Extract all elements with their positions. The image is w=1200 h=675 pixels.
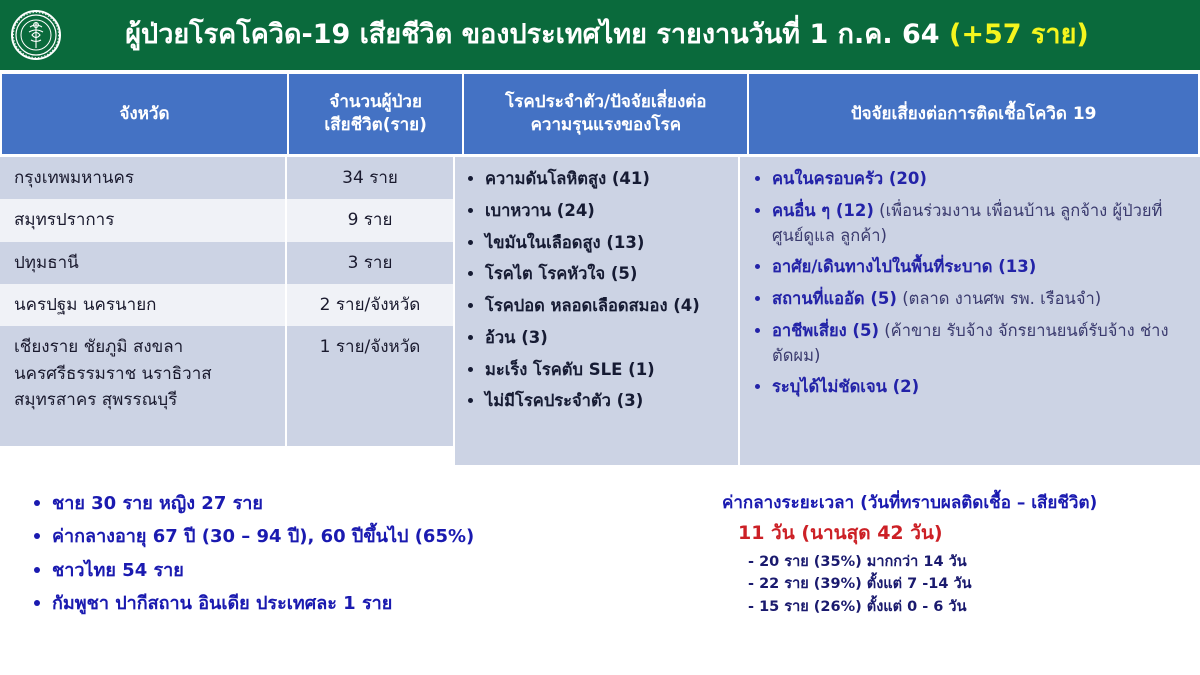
- page-title-highlight: (+57 ราย): [949, 19, 1089, 50]
- page-header: ผู้ป่วยโรคโควิด-19 เสียชีวิต ของประเทศไท…: [0, 0, 1200, 70]
- duration-breakdown: - 20 ราย (35%) มากกว่า 14 วัน - 22 ราย (…: [748, 551, 1192, 618]
- duration-breakdown-item: - 15 ราย (26%) ตั้งแต่ 0 - 6 วัน: [748, 596, 1192, 618]
- cell-province-line2: นครศรีธรรมราช นราธิวาส: [14, 361, 271, 387]
- column-header-comorbidity-line2: ความรุนแรงของโรค: [470, 114, 741, 137]
- column-header-death-count-line1: จำนวนผู้ป่วย: [295, 91, 456, 114]
- duration-summary-title: ค่ากลางระยะเวลา (วันที่ทราบผลติดเชื้อ – …: [722, 492, 1192, 515]
- cell-death-count: 1 ราย/จังหวัด: [287, 326, 453, 446]
- list-item: ความดันโลหิตสูง (41): [465, 167, 730, 192]
- cell-province: ปทุมธานี: [0, 242, 285, 284]
- cell-province: เชียงราย ชัยภูมิ สงขลา นครศรีธรรมราช นรา…: [0, 326, 285, 446]
- risk-factor-detail: (ตลาด งานศพ รพ. เรือนจำ): [897, 289, 1101, 308]
- list-item: คนอื่น ๆ (12) (เพื่อนร่วมงาน เพื่อนบ้าน …: [752, 199, 1190, 249]
- table-row: กรุงเทพมหานคร 34 ราย: [0, 157, 453, 199]
- table-row: นครปฐม นครนายก 2 ราย/จังหวัด: [0, 284, 453, 326]
- cell-death-count: 2 ราย/จังหวัด: [287, 284, 453, 326]
- table-row: ปทุมธานี 3 ราย: [0, 242, 453, 284]
- list-item: กัมพูชา ปากีสถาน อินเดีย ประเทศละ 1 ราย: [30, 592, 670, 616]
- cell-death-count: 9 ราย: [287, 199, 453, 241]
- list-item: ไขมันในเลือดสูง (13): [465, 231, 730, 256]
- risk-factor-panel: คนในครอบครัว (20) คนอื่น ๆ (12) (เพื่อนร…: [740, 157, 1200, 465]
- risk-factor-main: สถานที่แออัด (5): [772, 289, 897, 308]
- demographic-summary: ชาย 30 ราย หญิง 27 ราย ค่ากลางอายุ 67 ปี…: [30, 492, 670, 625]
- cell-death-count: 34 ราย: [287, 157, 453, 199]
- data-table-header: จังหวัด จำนวนผู้ป่วย เสียชีวิต(ราย) โรคป…: [0, 74, 1200, 154]
- duration-summary-headline: 11 วัน (นานสุด 42 วัน): [738, 521, 1192, 546]
- table-row: เชียงราย ชัยภูมิ สงขลา นครศรีธรรมราช นรา…: [0, 326, 453, 446]
- table-row: สมุทรปราการ 9 ราย: [0, 199, 453, 241]
- list-item: ชาย 30 ราย หญิง 27 ราย: [30, 492, 670, 516]
- risk-factor-main: คนอื่น ๆ (12): [772, 201, 874, 220]
- list-item: ไม่มีโรคประจำตัว (3): [465, 389, 730, 414]
- cell-province: สมุทรปราการ: [0, 199, 285, 241]
- list-item: อ้วน (3): [465, 326, 730, 351]
- duration-breakdown-item: - 20 ราย (35%) มากกว่า 14 วัน: [748, 551, 1192, 573]
- column-header-risk-factor: ปัจจัยเสี่ยงต่อการติดเชื้อโควิด 19: [749, 74, 1198, 154]
- page-title: ผู้ป่วยโรคโควิด-19 เสียชีวิต ของประเทศไท…: [62, 20, 1200, 50]
- duration-breakdown-item: - 22 ราย (39%) ตั้งแต่ 7 -14 วัน: [748, 573, 1192, 595]
- column-header-death-count-line2: เสียชีวิต(ราย): [295, 114, 456, 137]
- duration-summary: ค่ากลางระยะเวลา (วันที่ทราบผลติดเชื้อ – …: [722, 492, 1192, 618]
- cell-province: นครปฐม นครนายก: [0, 284, 285, 326]
- cell-province: กรุงเทพมหานคร: [0, 157, 285, 199]
- cell-death-count: 3 ราย: [287, 242, 453, 284]
- demographic-summary-list: ชาย 30 ราย หญิง 27 ราย ค่ากลางอายุ 67 ปี…: [30, 492, 670, 616]
- column-header-province: จังหวัด: [2, 74, 287, 154]
- cell-province-line3: สมุทรสาคร สุพรรณบุรี: [14, 387, 271, 413]
- cell-province-line1: เชียงราย ชัยภูมิ สงขลา: [14, 334, 271, 360]
- list-item: สถานที่แออัด (5) (ตลาด งานศพ รพ. เรือนจำ…: [752, 287, 1190, 312]
- risk-factor-main: คนในครอบครัว (20): [772, 169, 927, 188]
- comorbidity-panel: ความดันโลหิตสูง (41) เบาหวาน (24) ไขมันใ…: [455, 157, 738, 465]
- list-item: โรคไต โรคหัวใจ (5): [465, 262, 730, 287]
- column-header-comorbidity-line1: โรคประจำตัว/ปัจจัยเสี่ยงต่อ: [470, 91, 741, 114]
- list-item: อาชีพเสี่ยง (5) (ค้าขาย รับจ้าง จักรยานย…: [752, 319, 1190, 369]
- list-item: เบาหวาน (24): [465, 199, 730, 224]
- list-item: มะเร็ง โรคตับ SLE (1): [465, 358, 730, 383]
- list-item: โรคปอด หลอดเลือดสมอง (4): [465, 294, 730, 319]
- list-item: ระบุได้ไม่ชัดเจน (2): [752, 375, 1190, 400]
- infographic-page: ผู้ป่วยโรคโควิด-19 เสียชีวิต ของประเทศไท…: [0, 0, 1200, 675]
- table-header-row: จังหวัด จำนวนผู้ป่วย เสียชีวิต(ราย) โรคป…: [2, 74, 1198, 154]
- comorbidity-list: ความดันโลหิตสูง (41) เบาหวาน (24) ไขมันใ…: [465, 167, 730, 414]
- thai-moph-emblem-icon: [10, 9, 62, 61]
- list-item: คนในครอบครัว (20): [752, 167, 1190, 192]
- list-item: ค่ากลางอายุ 67 ปี (30 – 94 ปี), 60 ปีขึ้…: [30, 525, 670, 549]
- risk-factor-main: อาศัย/เดินทางไปในพื้นที่ระบาด (13): [772, 257, 1036, 276]
- risk-factor-main: ระบุได้ไม่ชัดเจน (2): [772, 377, 919, 396]
- province-count-grid: กรุงเทพมหานคร 34 ราย สมุทรปราการ 9 ราย ป…: [0, 157, 453, 446]
- risk-factor-list: คนในครอบครัว (20) คนอื่น ๆ (12) (เพื่อนร…: [752, 167, 1190, 400]
- column-header-comorbidity: โรคประจำตัว/ปัจจัยเสี่ยงต่อ ความรุนแรงขอ…: [464, 74, 747, 154]
- column-header-death-count: จำนวนผู้ป่วย เสียชีวิต(ราย): [289, 74, 462, 154]
- list-item: อาศัย/เดินทางไปในพื้นที่ระบาด (13): [752, 255, 1190, 280]
- risk-factor-main: อาชีพเสี่ยง (5): [772, 321, 879, 340]
- page-title-main: ผู้ป่วยโรคโควิด-19 เสียชีวิต ของประเทศไท…: [125, 19, 939, 50]
- list-item: ชาวไทย 54 ราย: [30, 559, 670, 583]
